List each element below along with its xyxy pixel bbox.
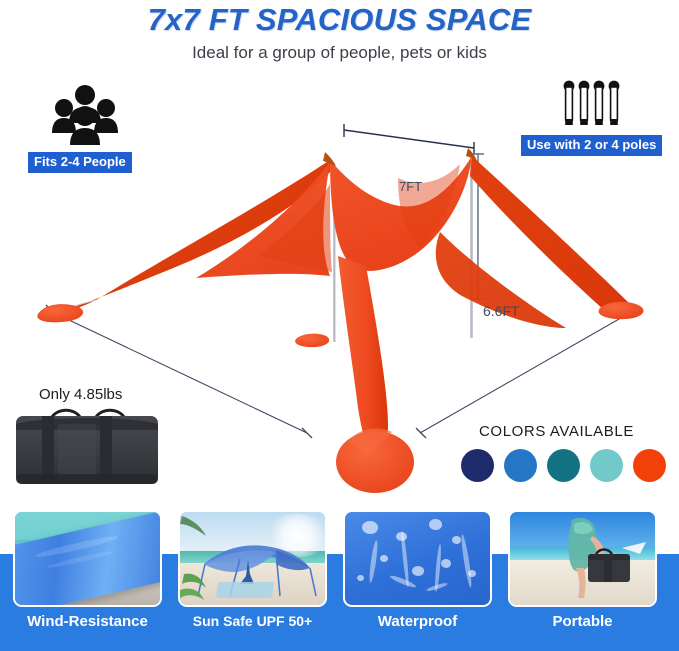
- color-swatch-teal[interactable]: [547, 449, 580, 482]
- product-infographic: 7x7 FT SPACIOUS SPACE Ideal for a group …: [0, 0, 679, 651]
- bag-weight-label: Only 4.85lbs: [39, 386, 122, 403]
- color-swatch-orange[interactable]: [633, 449, 666, 482]
- feature-image-waterproof: [343, 510, 492, 607]
- page-title: 7x7 FT SPACIOUS SPACE: [0, 2, 679, 38]
- dimension-label-width: 7FT: [399, 179, 422, 194]
- feature-card-portable: Portable: [508, 510, 657, 650]
- feature-label-sun-safe: Sun Safe UPF 50+: [178, 613, 327, 629]
- feature-card-waterproof: Waterproof: [343, 510, 492, 650]
- feature-card-wind-resistance: Wind-Resistance: [13, 510, 162, 650]
- carry-bag-image: [12, 404, 162, 488]
- color-swatch-row: [461, 448, 666, 482]
- feature-label-portable: Portable: [508, 613, 657, 630]
- colors-available-title: COLORS AVAILABLE: [479, 423, 634, 440]
- feature-strip: Wind-Resistance: [0, 554, 679, 651]
- color-swatch-blue[interactable]: [504, 449, 537, 482]
- feature-image-sun-safe: [178, 510, 327, 607]
- feature-card-sun-safe: Sun Safe UPF 50+: [178, 510, 327, 650]
- feature-label-waterproof: Waterproof: [343, 613, 492, 630]
- feature-label-wind-resistance: Wind-Resistance: [13, 613, 162, 630]
- color-swatch-light-teal[interactable]: [590, 449, 623, 482]
- feature-image-portable: [508, 510, 657, 607]
- color-swatch-navy[interactable]: [461, 449, 494, 482]
- dimension-label-height: 6.6FT: [483, 303, 520, 319]
- feature-image-wind-resistance: [13, 510, 162, 607]
